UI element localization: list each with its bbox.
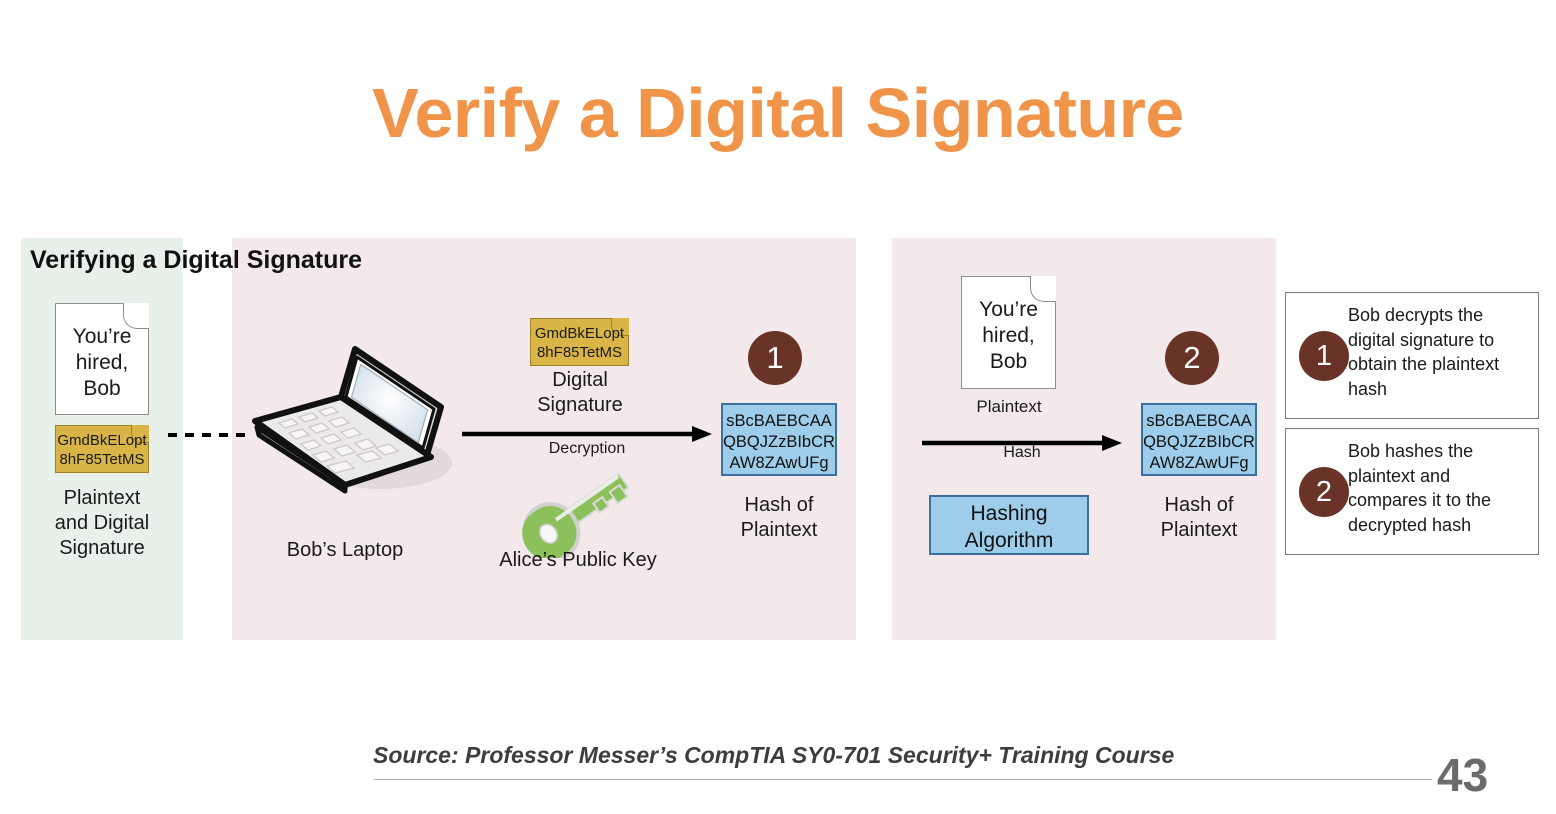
hash-line-3: AW8ZAwUFg [1143,453,1255,474]
legend-text-1: Bob decrypts the digital signature to ob… [1348,303,1530,401]
algorithm-line-1: Hashing [931,500,1087,527]
caption-bobs-laptop: Bob’s Laptop [245,538,445,563]
document-line-1: You’re [56,324,148,350]
algorithm-line-2: Algorithm [931,527,1087,554]
hash-line-2: QBQJZzBIbCR [1143,432,1255,453]
caption-line-2: Plaintext [699,518,859,543]
signature-line-2: 8hF85TetMS [531,343,628,362]
laptop-illustration [245,335,455,495]
caption-line-2: Plaintext [1119,518,1279,543]
hash-block-right: sBcBAEBCAA QBQJZzBIbCR AW8ZAwUFg [1141,403,1257,476]
hash-line-2: QBQJZzBIbCR [723,432,835,453]
legend-badge-2: 2 [1299,467,1349,517]
footer-divider [374,779,1432,780]
step-badge-1: 1 [748,331,802,385]
caption-plaintext-and-signature: Plaintext and Digital Signature [21,486,183,561]
signature-line-1: GmdBkELopt [531,324,628,343]
digital-signature-block-left: GmdBkELopt 8hF85TetMS [55,425,149,473]
arrow-label-hash: Hash [922,444,1122,462]
page-number: 43 [1437,748,1488,802]
diagram-heading: Verifying a Digital Signature [30,246,362,275]
dashed-connector-line [168,433,250,437]
caption-line-1: Digital [490,368,670,393]
document-line-2: hired, [962,323,1055,349]
plaintext-document-right: You’re hired, Bob [961,276,1056,389]
caption-line-1: Hash of [699,493,859,518]
arrow-label-decryption: Decryption [462,440,712,458]
caption-plaintext-right: Plaintext [938,396,1080,418]
legend-text-2: Bob hashes the plaintext and compares it… [1348,439,1530,537]
step-badge-2: 2 [1165,331,1219,385]
document-line-2: hired, [56,350,148,376]
hash-line-1: sBcBAEBCAA [723,411,835,432]
source-note: Source: Professor Messer’s CompTIA SY0-7… [373,742,1174,769]
document-line-3: Bob [56,376,148,402]
caption-digital-signature: Digital Signature [490,368,670,418]
legend-badge-1: 1 [1299,331,1349,381]
signature-line-1: GmdBkELopt [56,431,148,450]
legend-box-1: 1 Bob decrypts the digital signature to … [1285,292,1539,419]
caption-line-3: Signature [21,536,183,561]
hash-line-1: sBcBAEBCAA [1143,411,1255,432]
caption-line-1: Plaintext [21,486,183,511]
public-key-icon [508,468,648,558]
document-line-1: You’re [962,297,1055,323]
hash-line-3: AW8ZAwUFg [723,453,835,474]
page-title: Verify a Digital Signature [0,78,1556,148]
legend-box-2: 2 Bob hashes the plaintext and compares … [1285,428,1539,555]
plaintext-document-left: You’re hired, Bob [55,303,149,415]
signature-line-2: 8hF85TetMS [56,450,148,469]
caption-line-1: Hash of [1119,493,1279,518]
caption-line-2: Signature [490,393,670,418]
caption-alices-public-key: Alice’s Public Key [470,548,686,573]
hashing-algorithm-box: Hashing Algorithm [929,495,1089,555]
caption-hash-of-plaintext-middle: Hash of Plaintext [699,493,859,543]
caption-line-2: and Digital [21,511,183,536]
hash-block-middle: sBcBAEBCAA QBQJZzBIbCR AW8ZAwUFg [721,403,837,476]
document-line-3: Bob [962,349,1055,375]
caption-hash-of-plaintext-right: Hash of Plaintext [1119,493,1279,543]
digital-signature-block-middle: GmdBkELopt 8hF85TetMS [530,318,629,366]
